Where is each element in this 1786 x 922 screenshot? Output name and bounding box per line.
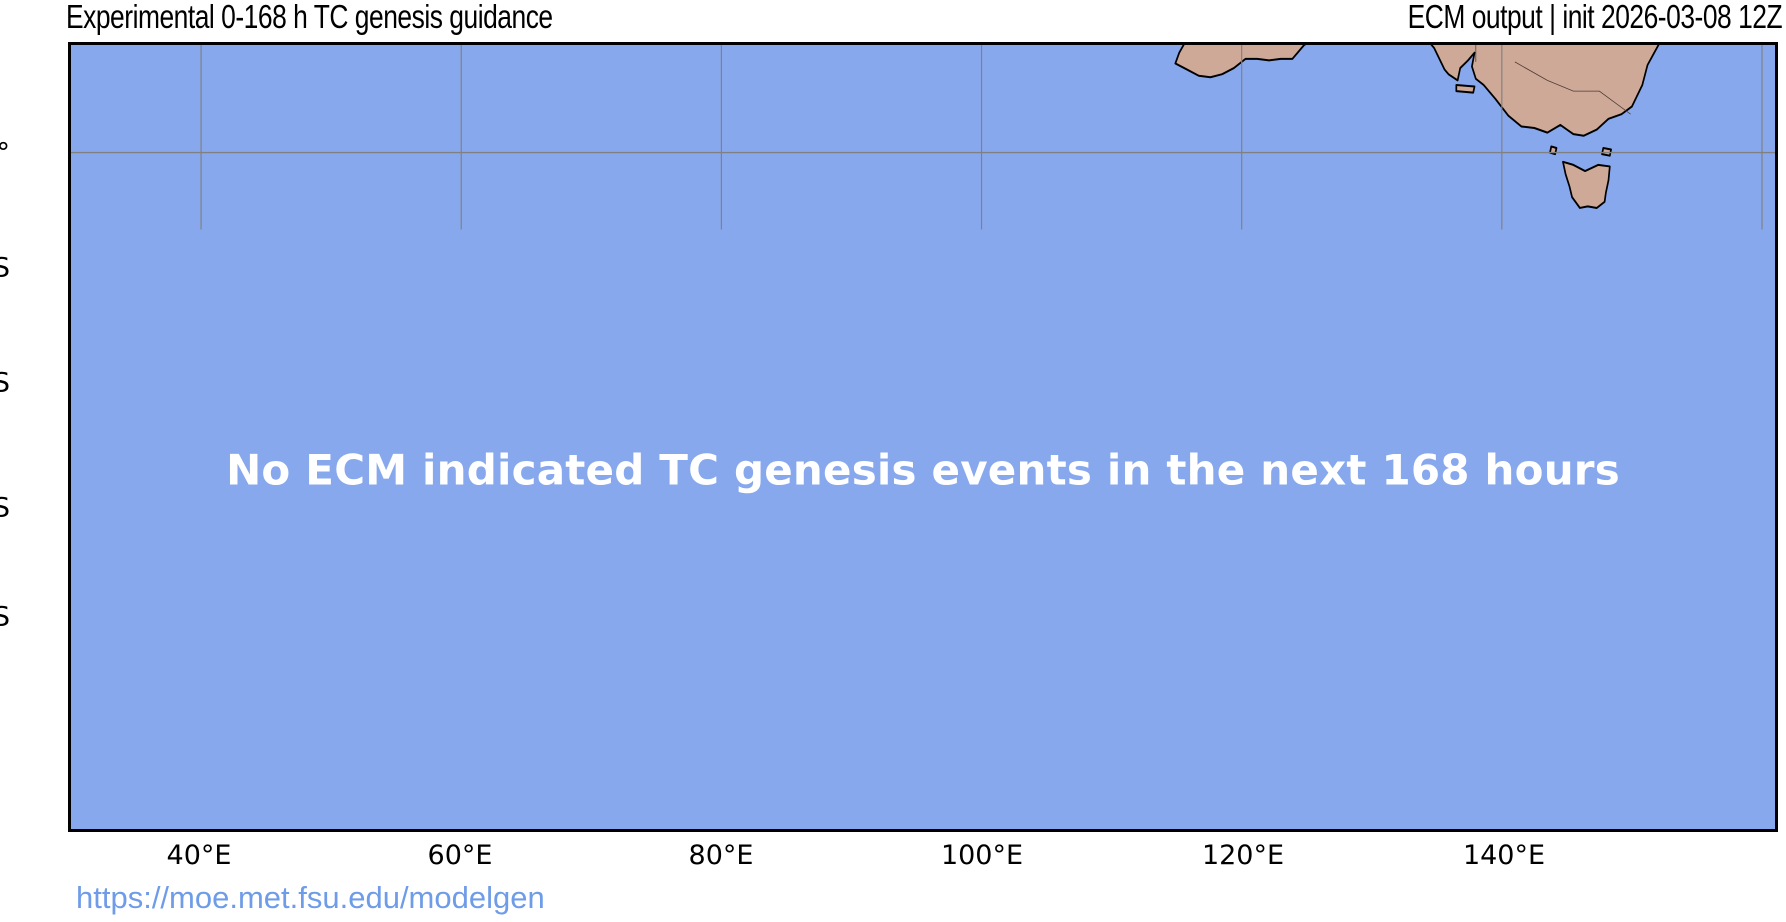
y-tick-30s: 30°S	[0, 493, 10, 524]
y-tick-0: 0°	[0, 138, 10, 169]
x-tick-140e: 140°E	[1463, 840, 1545, 871]
y-tick-20s: 20°S	[0, 368, 10, 399]
source-url-link[interactable]: https://moe.met.fsu.edu/modelgen	[76, 880, 545, 916]
admin-borders	[71, 45, 1664, 114]
y-tick-10s: 10°S	[0, 253, 10, 284]
x-tick-40e: 40°E	[167, 840, 232, 871]
world-map: .land { fill: #cfa998; stroke: #000000; …	[71, 45, 1775, 829]
x-tick-100e: 100°E	[941, 840, 1023, 871]
model-init-label: ECM output | init 2026-03-08 12Z	[1407, 0, 1782, 36]
landmasses	[71, 45, 1775, 208]
page-title: Experimental 0-168 h TC genesis guidance	[66, 0, 553, 36]
x-tick-120e: 120°E	[1202, 840, 1284, 871]
y-tick-40s: 40°S	[0, 602, 10, 633]
x-tick-80e: 80°E	[689, 840, 754, 871]
map-plot-area[interactable]: .land { fill: #cfa998; stroke: #000000; …	[68, 42, 1778, 832]
header-bar: Experimental 0-168 h TC genesis guidance…	[0, 0, 1786, 40]
x-tick-60e: 60°E	[428, 840, 493, 871]
